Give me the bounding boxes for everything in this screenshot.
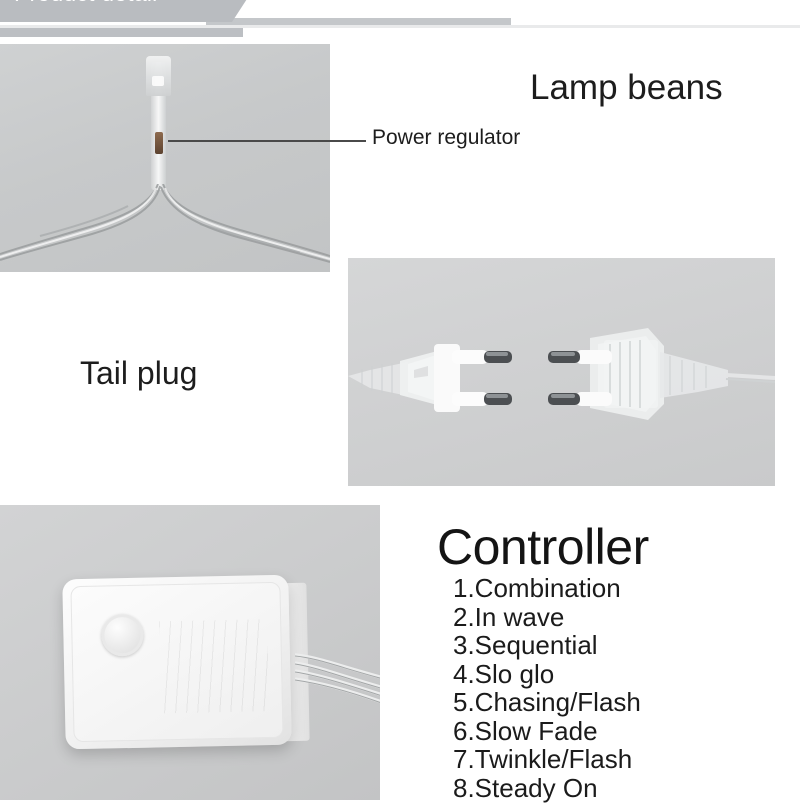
controller-embossed-text [159,619,269,713]
right-plug [548,328,775,420]
list-item: 7.Twinkle/Flash [453,745,777,774]
tail-plug-label: Tail plug [80,355,197,392]
tail-plug-photo [348,258,775,486]
list-item: 5.Chasing/Flash [453,688,777,717]
list-item: 4.Slo glo [453,660,777,689]
banner-shadow [0,28,243,37]
lamp-bead-wires [0,184,330,272]
list-item: 3.Sequential [453,631,777,660]
list-item: 2.In wave [453,603,777,632]
list-item: 1.Combination [453,574,777,603]
product-detail-banner: Product detail [0,0,800,34]
lamp-beans-label: Lamp beans [530,68,723,108]
left-plug [348,344,512,412]
lamp-bead-photo [0,44,330,272]
lamp-bead-head-icon [146,56,171,96]
controller-mode-list: 1.Combination 2.In wave 3.Sequential 4.S… [453,574,777,802]
power-regulator-component [155,132,163,154]
controller-box-body [62,575,292,750]
list-item: 6.Slow Fade [453,717,777,746]
controller-photo [0,505,380,800]
controller-heading: Controller [437,521,777,573]
list-item: 8.Steady On [453,774,777,803]
twin-plug-illustration [348,258,775,486]
power-regulator-leader-line [168,140,366,142]
controller-text-block: Controller 1.Combination 2.In wave 3.Seq… [437,521,777,802]
power-regulator-label: Power regulator [372,126,520,150]
banner-title: Product detail [14,0,157,7]
controller-output-wires [295,615,380,725]
banner-underline [0,25,800,28]
